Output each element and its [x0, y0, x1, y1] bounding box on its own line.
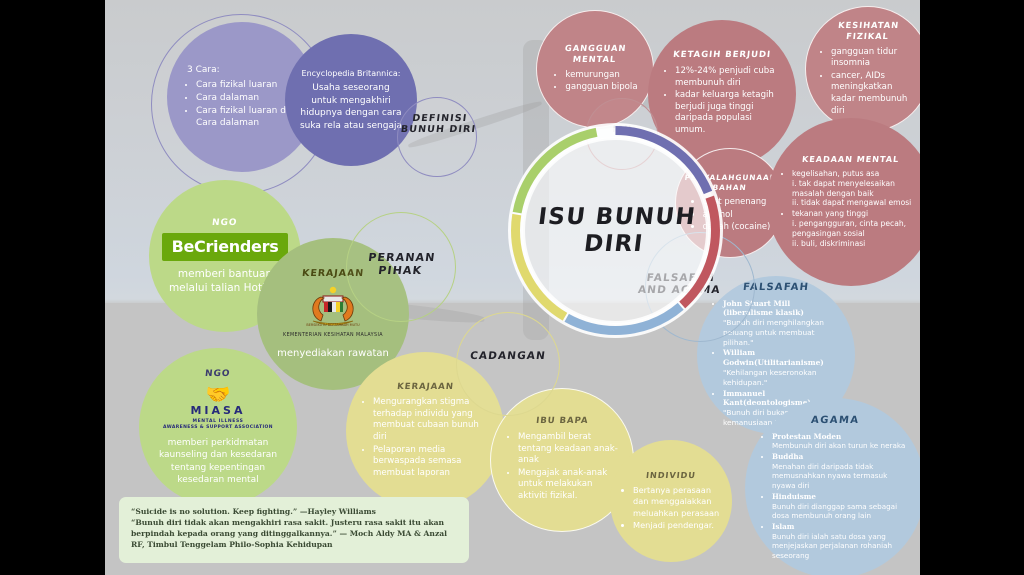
ibu-bapa-item: Mengajak anak-anak untuk melakukan aktiv… — [518, 468, 619, 503]
miasa-body: memberi perkidmatan kaunseling dan kesed… — [149, 437, 287, 486]
cadangan-kerajaan-item: Pelaporan media berwaspada semasa membua… — [373, 445, 490, 480]
bubble-individu: Individu Bertanya perasaan dan menggalak… — [610, 440, 732, 562]
miasa-ngo-tag: NGO — [205, 368, 232, 380]
agama-who: Islam — [772, 522, 794, 531]
kesihatan-fizikal-title: Kesihatan fizikal — [817, 20, 919, 43]
cara-heading: 3 Cara: — [187, 64, 220, 76]
kerajaan-peranan-body: menyediakan rawatan — [277, 347, 389, 360]
agama-entry: Islam Bunuh diri ialah satu dosa yang me… — [772, 522, 911, 561]
bubble-kesihatan-fizikal: Kesihatan fizikal gangguan tidur insomni… — [805, 6, 920, 132]
keadaan-mental-sub: ii. buli, diskriminasi — [792, 239, 865, 248]
keadaan-mental-title: Keadaan mental — [802, 154, 900, 165]
falsafah-quote: "Kehilangan keseronokan kehidupan." — [723, 368, 817, 387]
agama-text: Bunuh diri ialah satu dosa yang menjejas… — [772, 532, 892, 560]
center-title: Isu Bunuh Diri — [500, 128, 730, 333]
bubble-miasa: NGO 🤝 MIASA MENTAL ILLNESS AWARENESS & S… — [139, 348, 297, 506]
bubble-agama: Agama Protestan Moden Membunuh diri akan… — [745, 398, 920, 575]
agama-text: Membunuh diri akan turun ke neraka — [772, 441, 905, 450]
agama-who: Protestan Moden — [772, 432, 841, 441]
agama-who: Hinduisme — [772, 492, 816, 501]
crest-caption: KEMENTERIAN KESIHATAN MALAYSIA — [283, 333, 383, 339]
cadangan-kerajaan-item: Mengurangkan stigma terhadap individu ya… — [373, 397, 490, 443]
keadaan-mental-head: tekanan yang tinggi — [792, 209, 868, 218]
miasa-hands-icon: 🤝 — [206, 384, 231, 404]
spoke-bubble-definisi — [397, 97, 477, 177]
gangguan-mental-item: kemurungan — [565, 70, 637, 82]
gangguan-mental-title: Gangguan mental — [546, 43, 644, 66]
befrienders-logo-c: riend — [205, 237, 251, 256]
ketagih-berjudi-item: 12%-24% penjudi cuba membunuh diri — [675, 66, 782, 89]
agama-title: Agama — [810, 414, 860, 428]
slide-stage: 3 Cara: Cara fizikal luaran Cara dalaman… — [0, 0, 1024, 575]
quote-card: “Suicide is no solution. Keep fighting.”… — [119, 497, 469, 563]
spoke-label-definisi: Definisi Bunuh diri — [400, 114, 479, 136]
individu-item: Bertanya perasaan dan menggalakkan melua… — [633, 485, 722, 518]
kesihatan-fizikal-item: gangguan tidur insomnia — [831, 47, 918, 70]
cadangan-kerajaan-title: Kerajaan — [396, 382, 454, 394]
quote-line-1: “Suicide is no solution. Keep fighting.”… — [131, 506, 457, 517]
befrienders-logo-b: C — [194, 237, 205, 256]
britannica-source: Encyclopedia Britannica: — [302, 68, 401, 79]
miasa-logo: 🤝 MIASA MENTAL ILLNESS AWARENESS & SUPPO… — [163, 384, 273, 431]
britannica-body: Usaha seseorang untuk mengakhiri hidupny… — [299, 82, 403, 132]
ibu-bapa-title: Ibu bapa — [535, 416, 588, 428]
ketagih-berjudi-title: Ketagih Berjudi — [672, 50, 771, 62]
falsafah-who: Immanuel Kant(deontologisme) — [723, 389, 811, 408]
keadaan-mental-head: kegelisahan, putus asa — [792, 169, 879, 178]
svg-text:BERSEKUTU BERTAMBAH MUTU: BERSEKUTU BERTAMBAH MUTU — [306, 323, 360, 327]
spoke-label-peranan-pihak: Peranan Pihak — [344, 252, 457, 277]
keadaan-mental-item: kegelisahan, putus asa i. tak dapat meny… — [792, 169, 920, 208]
mindmap-canvas: 3 Cara: Cara fizikal luaran Cara dalaman… — [105, 0, 920, 575]
center-hub: Isu Bunuh Diri — [513, 128, 718, 333]
falsafah-entry: William Godwin(Utilitarianisme) "Kehilan… — [723, 348, 842, 387]
miasa-sub2: AWARENESS & SUPPORT ASSOCIATION — [163, 425, 273, 431]
befrienders-ngo-tag: NGO — [212, 217, 239, 229]
individu-title: Individu — [646, 470, 697, 481]
befrienders-logo-a: Be — [172, 237, 194, 256]
quote-line-2: “Bunuh diri tidak akan mengakhiri rasa s… — [131, 517, 457, 550]
keadaan-mental-item: tekanan yang tinggi i. pengangguran, cin… — [792, 209, 920, 248]
falsafah-who: William Godwin(Utilitarianisme) — [723, 348, 824, 367]
spoke-label-cadangan: Cadangan — [455, 350, 560, 362]
befrienders-logo-d: ers — [251, 237, 278, 256]
gangguan-mental-item: gangguan bipola — [565, 82, 637, 94]
agama-entry: Protestan Moden Membunuh diri akan turun… — [772, 432, 911, 451]
keadaan-mental-sub: ii. tidak dapat mengawal emosi — [792, 198, 911, 207]
ibu-bapa-item: Mengambil berat tentang keadaan anak-ana… — [518, 432, 619, 467]
keadaan-mental-sub: i. pengangguran, cinta pecah, pengasinga… — [792, 219, 906, 238]
agama-entry: Buddha Menahan diri daripada tidak memus… — [772, 452, 911, 491]
agama-who: Buddha — [772, 452, 803, 461]
agama-text: Menahan diri daripada tidak memusnahkan … — [772, 462, 887, 490]
miasa-name: MIASA — [190, 404, 245, 419]
befrienders-logo: BeCrienders — [162, 233, 289, 261]
agama-text: Bunuh diri dianggap sama sebagai dosa me… — [772, 502, 897, 521]
bubble-keadaan-mental: Keadaan mental kegelisahan, putus asa i.… — [767, 118, 920, 286]
agama-entry: Hinduisme Bunuh diri dianggap sama sebag… — [772, 492, 911, 521]
individu-item: Menjadi pendengar. — [633, 520, 722, 531]
kesihatan-fizikal-item: cancer, AIDs meningkatkan kadar membunuh… — [831, 71, 918, 117]
keadaan-mental-sub: i. tak dapat menyelesaikan masalah denga… — [792, 179, 895, 198]
